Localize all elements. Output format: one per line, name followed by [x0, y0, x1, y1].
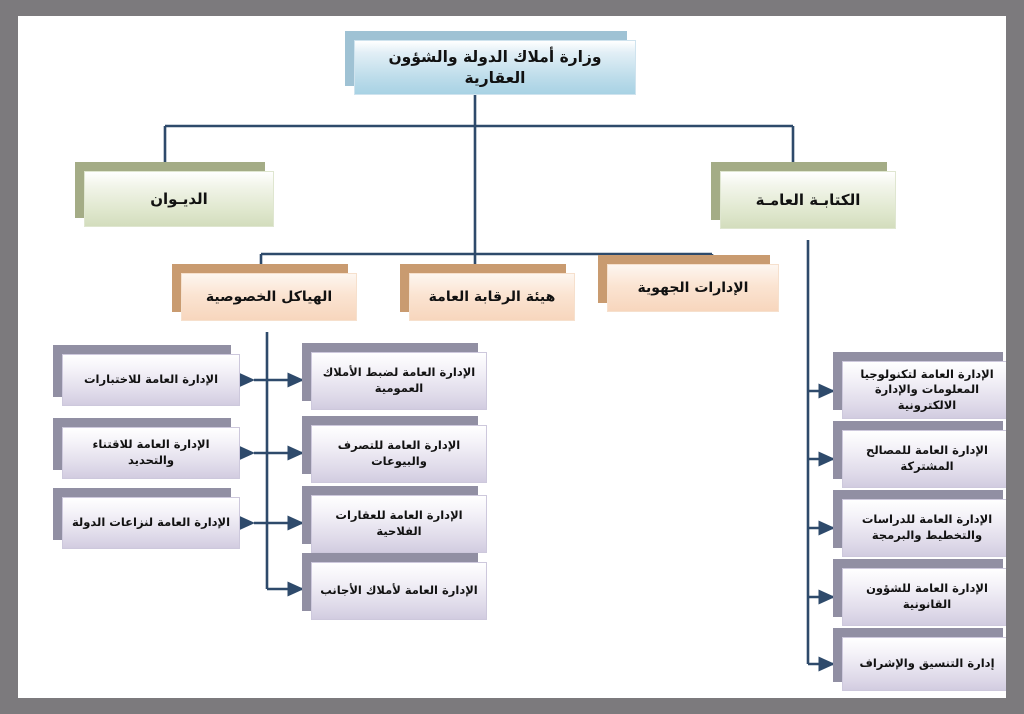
node-face: الإدارة العامة للدراسات والتخطيط والبرمج…	[842, 499, 1006, 557]
node-directorate-coordination-supervision[interactable]: إدارة التنسيق والإشراف	[842, 637, 1006, 691]
node-label: الإدارة العامة للعقارات الفلاحية	[318, 508, 480, 539]
node-label: الإدارة العامة لنزاعات الدولة	[72, 515, 230, 531]
node-general-directorate-studies-planning[interactable]: الإدارة العامة للدراسات والتخطيط والبرمج…	[842, 499, 1006, 557]
node-general-directorate-acquisition[interactable]: الإدارة العامة للاقتناء والتحديد	[62, 427, 240, 479]
node-face: وزارة أملاك الدولة والشؤون العقارية	[354, 40, 636, 95]
node-face: الكتابـة العامـة	[720, 171, 896, 229]
node-label: الإدارات الجهوية	[638, 279, 749, 298]
node-label: هيئة الرقابة العامة	[429, 288, 556, 307]
node-label: إدارة التنسيق والإشراف	[859, 656, 994, 672]
node-regional-administrations[interactable]: الإدارات الجهوية	[607, 264, 779, 312]
node-general-directorate-legal-affairs[interactable]: الإدارة العامة للشؤون القانونية	[842, 568, 1006, 626]
node-face: الهياكل الخصوصية	[181, 273, 357, 321]
node-label: الإدارة العامة للشؤون القانونية	[849, 581, 1005, 612]
node-face: الإدارة العامة لضبط الأملاك العمومية	[311, 352, 487, 410]
node-face: إدارة التنسيق والإشراف	[842, 637, 1006, 691]
node-general-directorate-common-services[interactable]: الإدارة العامة للمصالح المشتركة	[842, 430, 1006, 488]
node-label: الإدارة العامة للتصرف والبيوعات	[318, 438, 480, 469]
chart-canvas: وزارة أملاك الدولة والشؤون العقارية الدي…	[18, 16, 1006, 698]
node-general-oversight[interactable]: هيئة الرقابة العامة	[409, 273, 575, 321]
node-face: الإدارة العامة لأملاك الأجانب	[311, 562, 487, 620]
node-face: الإدارة العامة للتصرف والبيوعات	[311, 425, 487, 483]
node-diwan[interactable]: الديـوان	[84, 171, 274, 227]
node-face: الإدارة العامة للشؤون القانونية	[842, 568, 1006, 626]
node-label: الإدارة العامة لتكنولوجيا المعلومات والإ…	[849, 367, 1005, 414]
node-label: الإدارة العامة للاختبارات	[84, 372, 218, 388]
node-face: الإدارة العامة للعقارات الفلاحية	[311, 495, 487, 553]
node-label: الكتابـة العامـة	[756, 190, 861, 210]
node-label: الهياكل الخصوصية	[206, 288, 332, 307]
node-label: الإدارة العامة للاقتناء والتحديد	[69, 437, 233, 468]
chart-frame: وزارة أملاك الدولة والشؤون العقارية الدي…	[18, 16, 1006, 698]
node-ministry[interactable]: وزارة أملاك الدولة والشؤون العقارية	[354, 40, 636, 95]
node-face: الإدارات الجهوية	[607, 264, 779, 312]
node-general-directorate-it-egov[interactable]: الإدارة العامة لتكنولوجيا المعلومات والإ…	[842, 361, 1006, 419]
node-face: الإدارة العامة للمصالح المشتركة	[842, 430, 1006, 488]
node-face: الإدارة العامة لتكنولوجيا المعلومات والإ…	[842, 361, 1006, 419]
node-label: الإدارة العامة للمصالح المشتركة	[849, 443, 1005, 474]
node-face: هيئة الرقابة العامة	[409, 273, 575, 321]
node-label: الديـوان	[150, 189, 208, 209]
node-general-directorate-disposal-sales[interactable]: الإدارة العامة للتصرف والبيوعات	[311, 425, 487, 483]
node-label: الإدارة العامة لأملاك الأجانب	[320, 583, 478, 599]
node-face: الإدارة العامة لنزاعات الدولة	[62, 497, 240, 549]
node-label: الإدارة العامة للدراسات والتخطيط والبرمج…	[849, 512, 1005, 543]
node-general-directorate-public-property-control[interactable]: الإدارة العامة لضبط الأملاك العمومية	[311, 352, 487, 410]
node-label: الإدارة العامة لضبط الأملاك العمومية	[318, 365, 480, 396]
node-general-directorate-foreigners-property[interactable]: الإدارة العامة لأملاك الأجانب	[311, 562, 487, 620]
node-face: الإدارة العامة للاقتناء والتحديد	[62, 427, 240, 479]
node-general-directorate-examinations[interactable]: الإدارة العامة للاختبارات	[62, 354, 240, 406]
node-general-directorate-agricultural-properties[interactable]: الإدارة العامة للعقارات الفلاحية	[311, 495, 487, 553]
node-label: وزارة أملاك الدولة والشؤون العقارية	[361, 47, 629, 89]
node-face: الإدارة العامة للاختبارات	[62, 354, 240, 406]
node-face: الديـوان	[84, 171, 274, 227]
node-general-directorate-state-disputes[interactable]: الإدارة العامة لنزاعات الدولة	[62, 497, 240, 549]
node-special-structures[interactable]: الهياكل الخصوصية	[181, 273, 357, 321]
node-general-secretariat[interactable]: الكتابـة العامـة	[720, 171, 896, 229]
